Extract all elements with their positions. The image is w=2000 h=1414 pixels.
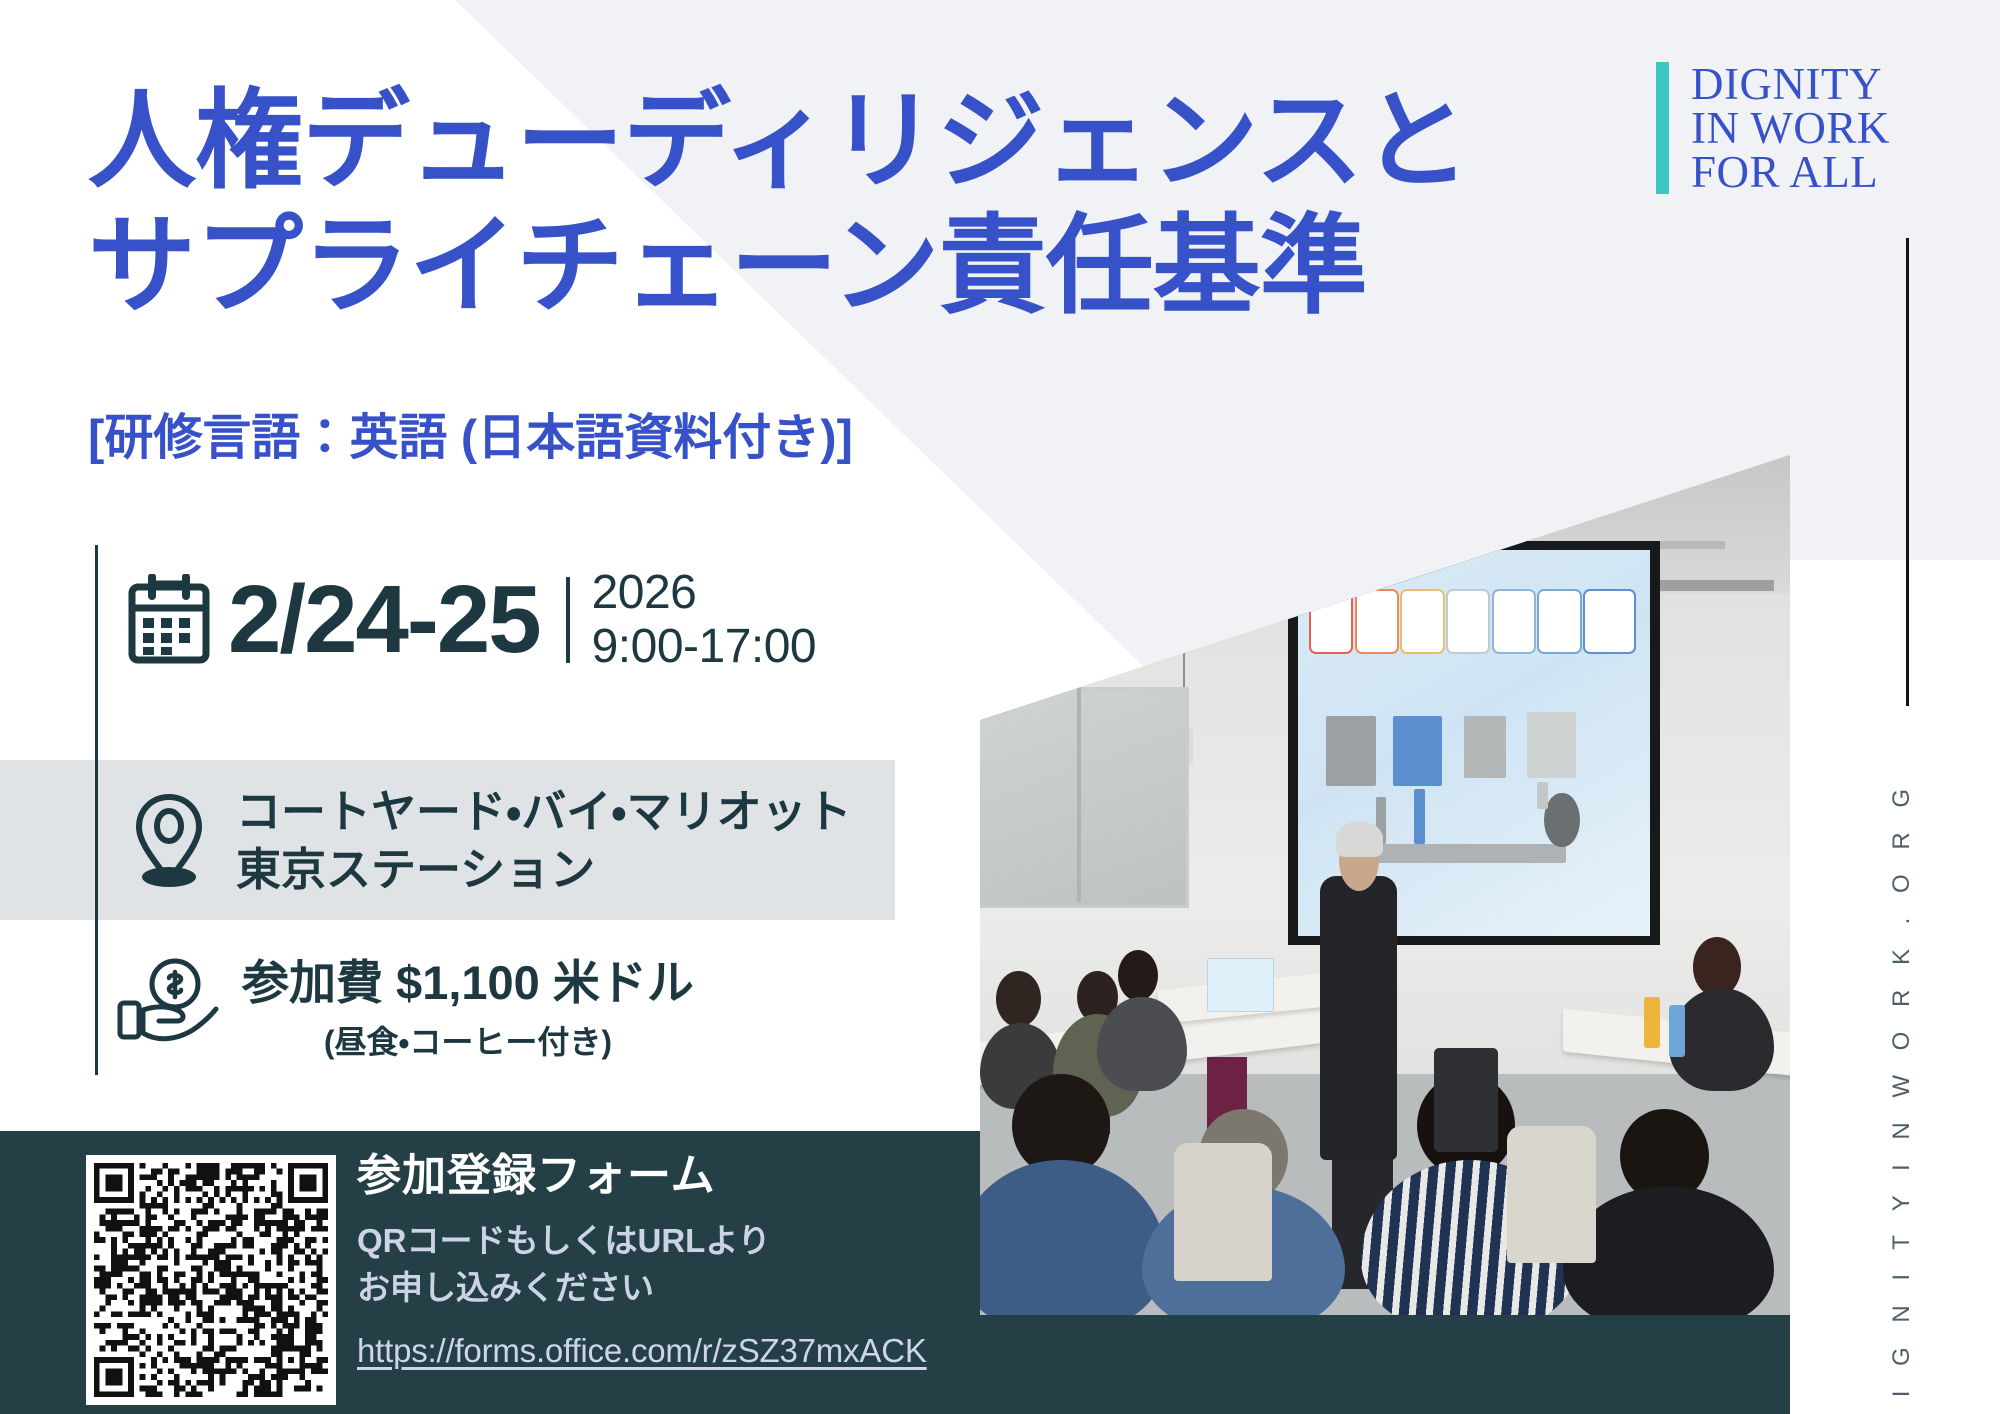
price-note: (昼食・コーヒー付き) [242, 1017, 694, 1063]
price-amount: 参加費 $1,100 米ドル [242, 955, 694, 1011]
registration-title: 参加登録フォーム [357, 1152, 997, 1200]
detail-row-venue: コートヤード・バイ・マリオット 東京ステーション [110, 768, 852, 913]
event-year: 2026 [592, 566, 817, 620]
date-divider [566, 577, 570, 663]
calendar-icon [110, 574, 228, 666]
logo-accent-bar [1656, 62, 1669, 194]
venue-name: コートヤード・バイ・マリオット 東京ステーション [236, 783, 852, 898]
logo-wordmark: DIGNITY IN WORK FOR ALL [1691, 62, 1890, 194]
title-line-1: 人権デューディリジェンスと [88, 78, 1469, 203]
event-date: 2/24-25 [228, 572, 540, 668]
right-vertical-rule [1906, 238, 1909, 706]
logo-line-3: FOR ALL [1691, 150, 1890, 194]
detail-row-date: 2/24-25 2026 9:00-17:00 [110, 566, 816, 674]
logo-line-2: IN WORK [1691, 106, 1890, 150]
venue-line-2: 東京ステーション [236, 841, 852, 899]
qr-code[interactable] [86, 1155, 336, 1405]
event-time: 9:00-17:00 [592, 620, 817, 674]
subtitle-language-note: [研修言語：英語 (日本語資料付き)] [88, 398, 853, 469]
registration-url-link[interactable]: https://forms.office.com/r/zSZ37mxACK [357, 1332, 927, 1370]
poster-root: DIGNITY IN WORK FOR ALL 人権デューディリジェンスと サプ… [0, 0, 2000, 1414]
registration-instructions: QRコードもしくはURLより お申し込みください [357, 1218, 997, 1312]
title-line-2: サプライチェーン責任基準 [88, 203, 1469, 328]
registration-instruction-line-2: お申し込みください [357, 1265, 997, 1312]
logo-line-1: DIGNITY [1691, 62, 1890, 106]
qr-canvas [94, 1163, 328, 1397]
info-column-rule [95, 545, 98, 1075]
registration-info: 参加登録フォーム QRコードもしくはURLより お申し込みください https:… [357, 1152, 997, 1370]
brand-logo: DIGNITY IN WORK FOR ALL [1656, 62, 1890, 194]
hand-coin-icon [110, 955, 228, 1047]
event-date-meta: 2026 9:00-17:00 [592, 566, 817, 674]
website-vertical-text: W W W . D I G N I T Y I N W O R K . O R … [1888, 780, 1916, 1414]
price-block: 参加費 $1,100 米ドル (昼食・コーヒー付き) [242, 955, 694, 1063]
page-title: 人権デューディリジェンスと サプライチェーン責任基準 [88, 78, 1469, 329]
location-pin-icon [110, 791, 228, 891]
detail-row-price: 参加費 $1,100 米ドル (昼食・コーヒー付き) [110, 955, 694, 1063]
venue-line-1: コートヤード・バイ・マリオット [236, 783, 852, 841]
registration-instruction-line-1: QRコードもしくはURLより [357, 1218, 997, 1265]
